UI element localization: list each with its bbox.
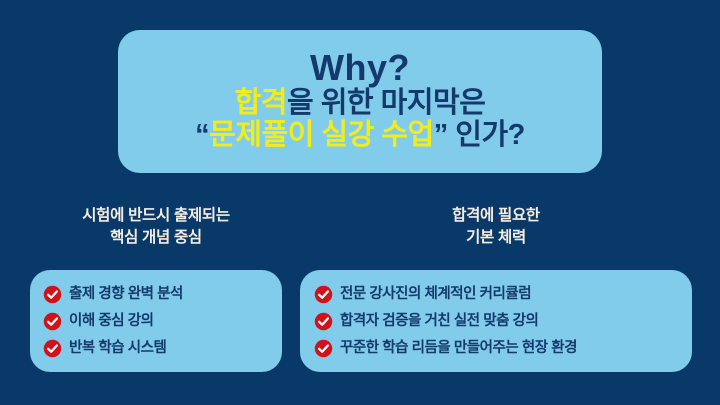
check-circle-icon bbox=[43, 285, 62, 304]
title-highlight-pass: 합격 bbox=[235, 87, 287, 119]
slide-root: Why? 합격을 위한 마지막은 “문제풀이 실강 수업” 인가? 시험에 반드… bbox=[0, 0, 720, 405]
title-line-why: Why? bbox=[128, 49, 592, 86]
quote-close-mark: ” bbox=[434, 119, 448, 151]
column-header-left-line1: 시험에 반드시 출제되는 bbox=[30, 205, 282, 227]
quote-open-mark: “ bbox=[195, 119, 209, 151]
list-item-label: 반복 학습 시스템 bbox=[69, 341, 166, 356]
list-item: 전문 강사진의 체계적인 커리큘럼 bbox=[300, 281, 692, 308]
column-header-right-line1: 합격에 필요한 bbox=[300, 205, 692, 227]
feature-card-right: 전문 강사진의 체계적인 커리큘럼 합격자 검증을 거친 실전 맞춤 강의 꾸준… bbox=[300, 270, 692, 372]
check-circle-icon bbox=[314, 285, 333, 304]
column-header-left: 시험에 반드시 출제되는 핵심 개념 중심 bbox=[30, 205, 282, 249]
title-line-two: 합격을 위한 마지막은 bbox=[128, 88, 592, 118]
check-circle-icon bbox=[43, 312, 62, 331]
list-item-label: 이해 중심 강의 bbox=[69, 314, 154, 329]
title-line-three-rest: 인가? bbox=[448, 119, 525, 151]
list-item-label: 출제 경향 완벽 분석 bbox=[69, 287, 183, 302]
column-header-left-line2: 핵심 개념 중심 bbox=[30, 227, 282, 249]
check-circle-icon bbox=[314, 312, 333, 331]
feature-card-left: 출제 경향 완벽 분석 이해 중심 강의 반복 학습 시스템 bbox=[30, 270, 282, 372]
list-item: 반복 학습 시스템 bbox=[30, 335, 282, 362]
list-item: 이해 중심 강의 bbox=[30, 308, 282, 335]
title-highlight-class: 문제풀이 실강 수업 bbox=[209, 119, 434, 151]
list-item-label: 전문 강사진의 체계적인 커리큘럼 bbox=[340, 287, 531, 302]
title-card: Why? 합격을 위한 마지막은 “문제풀이 실강 수업” 인가? bbox=[118, 30, 602, 173]
list-item-label: 합격자 검증을 거친 실전 맞춤 강의 bbox=[340, 314, 538, 329]
title-line-two-rest: 을 위한 마지막은 bbox=[287, 87, 485, 119]
column-header-right: 합격에 필요한 기본 체력 bbox=[300, 205, 692, 249]
column-header-right-line2: 기본 체력 bbox=[300, 227, 692, 249]
check-circle-icon bbox=[43, 339, 62, 358]
list-item-label: 꾸준한 학습 리듬을 만들어주는 현장 환경 bbox=[340, 341, 577, 356]
list-item: 꾸준한 학습 리듬을 만들어주는 현장 환경 bbox=[300, 335, 692, 362]
title-line-three: “문제풀이 실강 수업” 인가? bbox=[128, 120, 592, 150]
list-item: 출제 경향 완벽 분석 bbox=[30, 281, 282, 308]
list-item: 합격자 검증을 거친 실전 맞춤 강의 bbox=[300, 308, 692, 335]
check-circle-icon bbox=[314, 339, 333, 358]
